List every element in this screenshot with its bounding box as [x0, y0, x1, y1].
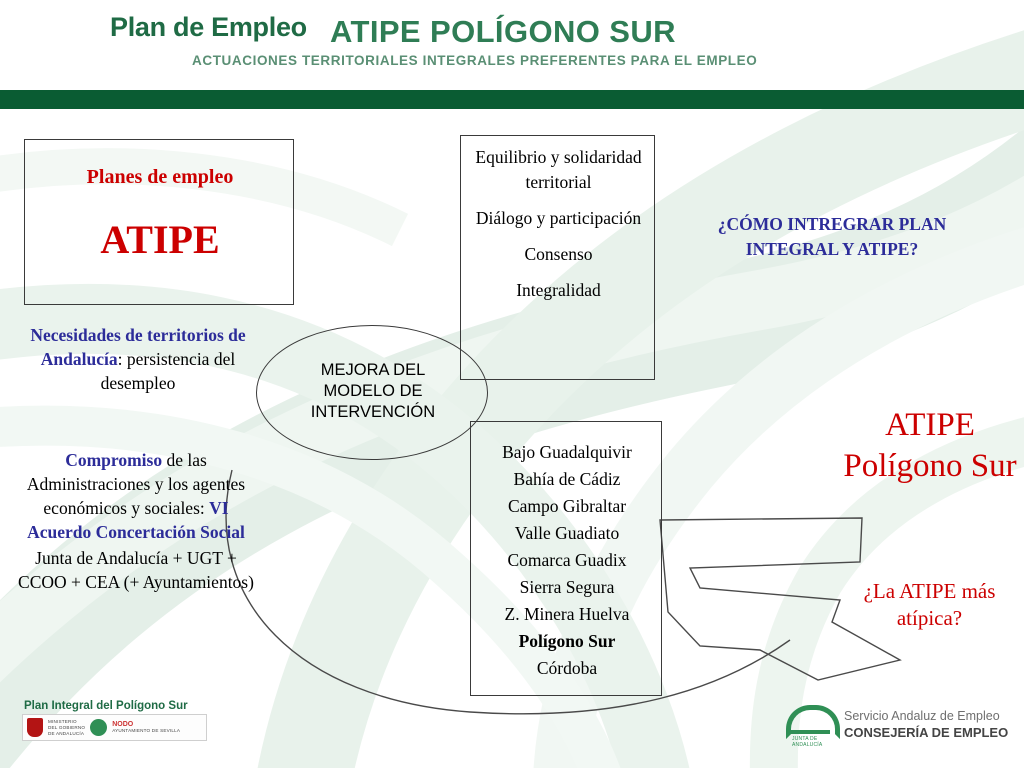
territorio-item: Sierra Segura [471, 574, 663, 601]
plan-integral-logo-strip: MINISTERIO DEL GOBIERNO DE ANDALUCÍA NOD… [22, 714, 207, 741]
planes-de-empleo-title: Planes de empleo [25, 166, 295, 189]
sae-line-2: CONSEJERÍA DE EMPLEO [844, 724, 1008, 741]
ayuntamiento-text: AYUNTAMIENTO DE SEVILLA [112, 728, 180, 734]
atipe-poligono-sur-title: ATIPE Polígono Sur [840, 405, 1020, 487]
mejora-modelo-ellipse: MEJORA DEL MODELO DE INTERVENCIÓN [256, 325, 488, 460]
junta-andalucia-icon: JUNTA DE ANDALUCÍA [782, 703, 836, 745]
territorio-item: Z. Minera Huelva [471, 601, 663, 628]
header-title-left: Plan de Empleo [110, 12, 307, 43]
plan-integral-logo: Plan Integral del Polígono Sur MINISTERI… [22, 700, 207, 748]
necesidades-text: Necesidades de territorios de Andalucía:… [14, 323, 262, 395]
header-subtitle: ACTUACIONES TERRITORIALES INTEGRALES PRE… [192, 53, 757, 68]
territorio-item: Comarca Guadix [471, 547, 663, 574]
necesidades-rest: : persistencia del desempleo [101, 349, 236, 393]
ministry-line-2: DEL GOBIERNO [48, 725, 85, 731]
nodo-logo: NODO AYUNTAMIENTO DE SEVILLA [112, 721, 180, 734]
territorio-item: Bajo Guadalquivir [471, 439, 663, 466]
territorio-item: Bahía de Cádiz [471, 466, 663, 493]
junta-caption: JUNTA DE ANDALUCÍA [792, 736, 836, 748]
principio-item: Equilibrio y solidaridad territorial [461, 145, 656, 195]
sae-logo: JUNTA DE ANDALUCÍA Servicio Andaluz de E… [782, 703, 1008, 745]
mejora-line-1: MEJORA DEL [257, 360, 489, 381]
nodo-text: NODO [112, 721, 180, 728]
mejora-line-3: INTERVENCIÓN [257, 402, 489, 423]
territorio-item: Campo Gibraltar [471, 493, 663, 520]
ministry-text: MINISTERIO DEL GOBIERNO DE ANDALUCÍA [48, 719, 85, 737]
compromiso-text: Compromiso de las Administraciones y los… [10, 448, 262, 594]
principios-list: Equilibrio y solidaridad territorial Diá… [461, 145, 656, 314]
territorio-item: Córdoba [471, 655, 663, 682]
principio-item: Diálogo y participación [461, 206, 656, 231]
como-integrar-question: ¿CÓMO INTREGRAR PLAN INTEGRAL Y ATIPE? [704, 212, 960, 262]
territorio-item-highlight: Polígono Sur [471, 628, 663, 655]
sae-logo-text: Servicio Andaluz de Empleo CONSEJERÍA DE… [844, 708, 1008, 741]
junta-bar-shape [786, 730, 830, 734]
principio-item: Consenso [461, 242, 656, 267]
header-title-main: ATIPE POLÍGONO SUR [330, 14, 676, 50]
planes-de-empleo-box: Planes de empleo ATIPE [24, 139, 294, 305]
territorio-item: Valle Guadiato [471, 520, 663, 547]
territorios-list: Bajo Guadalquivir Bahía de Cádiz Campo G… [471, 439, 663, 682]
territorios-box: Bajo Guadalquivir Bahía de Cádiz Campo G… [470, 421, 662, 696]
slide-canvas: Plan de Empleo ATIPE POLÍGONO SUR ACTUAC… [0, 0, 1024, 768]
principio-item: Integralidad [461, 278, 656, 303]
compromiso-keyword: Compromiso [65, 450, 162, 470]
junta-circle-icon [90, 719, 107, 736]
ministry-line-3: DE ANDALUCÍA [48, 731, 85, 737]
shield-icon [27, 718, 43, 737]
mejora-modelo-label: MEJORA DEL MODELO DE INTERVENCIÓN [257, 360, 489, 423]
planes-de-empleo-acronym: ATIPE [25, 216, 295, 263]
mejora-line-2: MODELO DE [257, 381, 489, 402]
compromiso-signatories: Junta de Andalucía + UGT + CCOO + CEA (+… [10, 546, 262, 594]
principios-box: Equilibrio y solidaridad territorial Diá… [460, 135, 655, 380]
atipica-question: ¿La ATIPE más atípica? [842, 578, 1017, 632]
header-divider-bar [0, 90, 1024, 109]
sae-line-1: Servicio Andaluz de Empleo [844, 708, 1008, 724]
plan-integral-logo-title: Plan Integral del Polígono Sur [24, 700, 207, 712]
